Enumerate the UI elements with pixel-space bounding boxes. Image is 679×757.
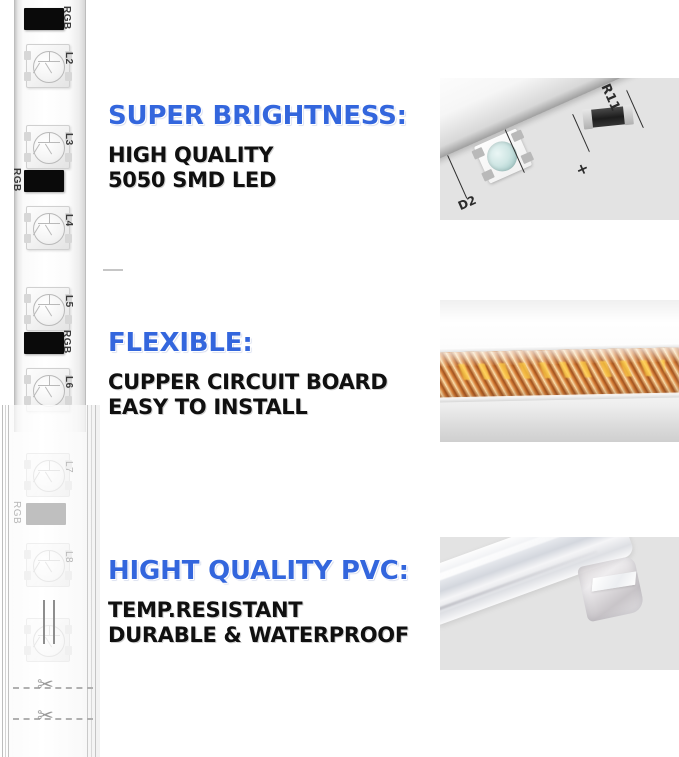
scissors-icon: ✂ [37, 675, 54, 695]
photo-smd-led: R11 D2 + [440, 78, 679, 220]
cut-marker: ✂ [13, 678, 93, 698]
photo-pvc-sleeve [440, 537, 679, 670]
feature-line: EASY TO INSTALL [108, 395, 388, 420]
feature-block-hight-quality-pvc: HIGHT QUALITY PVC: TEMP.RESISTANT DURABL… [108, 556, 409, 647]
led-pad [65, 234, 72, 243]
led-pad [24, 234, 31, 243]
led-package [26, 206, 70, 250]
led-package [26, 125, 70, 169]
led-pad [24, 132, 31, 141]
lead-wire [43, 600, 45, 644]
silkscreen-label-rgb: RGB [61, 6, 72, 30]
led-strip-column: RGB L2 L3 RGB [0, 0, 100, 757]
led-solder-pad [511, 129, 525, 142]
silkscreen-label-l5: L5 [63, 295, 74, 308]
silkscreen-label-l2: L2 [63, 52, 74, 65]
led-pad [24, 481, 31, 490]
strip-edge-line [91, 405, 92, 757]
led-pad [65, 315, 72, 324]
led-pad [24, 571, 31, 580]
led-pad [65, 72, 72, 81]
product-infographic: RGB L2 L3 RGB [0, 0, 679, 757]
chip-resistor [24, 332, 64, 354]
feature-block-super-brightness: SUPER BRIGHTNESS: HIGH QUALITY 5050 SMD … [108, 101, 407, 192]
silkscreen-label-rgb: RGB [11, 168, 22, 192]
silkscreen-label-l6: L6 [63, 376, 74, 389]
led-package [26, 287, 70, 331]
led-solder-pad [520, 151, 534, 164]
led-pad [24, 294, 31, 303]
feature-heading: FLEXIBLE: [108, 328, 388, 358]
feature-heading: HIGHT QUALITY PVC: [108, 556, 409, 586]
led-pad [65, 153, 72, 162]
feature-line: CUPPER CIRCUIT BOARD [108, 370, 388, 395]
silkscreen-label-rgb: RGB [61, 330, 72, 354]
silkscreen-label-rgb: RGB [11, 501, 22, 524]
scissors-icon: ✂ [37, 706, 54, 726]
led-pad [24, 396, 31, 405]
led-pad [65, 646, 72, 655]
chip-resistor [26, 503, 66, 525]
strip-edge-line [8, 405, 9, 757]
feature-block-flexible: FLEXIBLE: CUPPER CIRCUIT BOARD EASY TO I… [108, 328, 388, 419]
led-package [26, 44, 70, 88]
silkscreen-label-l4: L4 [63, 214, 74, 227]
silkscreen-label-l8: L8 [63, 551, 74, 563]
photo-copper-board [440, 300, 679, 442]
silkscreen-label-l3: L3 [63, 133, 74, 146]
feature-line: HIGH QUALITY [108, 143, 407, 168]
led-pad [24, 646, 31, 655]
feature-line: DURABLE & WATERPROOF [108, 623, 409, 648]
led-package [26, 618, 70, 662]
led-pad [65, 571, 72, 580]
chip-resistor [24, 8, 64, 30]
separator-dash [103, 269, 123, 271]
led-pad [24, 625, 31, 634]
led-package [26, 453, 70, 497]
led-pad [24, 153, 31, 162]
led-pad [24, 460, 31, 469]
led-pad [65, 481, 72, 490]
chip-resistor [24, 170, 64, 192]
strip-edge-line [2, 405, 3, 757]
cut-marker: ✂ [13, 709, 93, 729]
strip-edge-line [5, 405, 6, 757]
led-pad [24, 375, 31, 384]
silkscreen-label-l7: L7 [63, 461, 74, 473]
led-pad [65, 396, 72, 405]
led-pad [24, 72, 31, 81]
led-pad [65, 625, 72, 634]
silkscreen-text-plus: + [573, 158, 592, 180]
led-package [26, 543, 70, 587]
pvc-cut-end [577, 556, 645, 623]
feature-heading: SUPER BRIGHTNESS: [108, 101, 407, 131]
feature-line: 5050 SMD LED [108, 168, 407, 193]
feature-line: TEMP.RESISTANT [108, 598, 409, 623]
silkscreen-text-d2: D2 [456, 193, 478, 213]
strip-edge-line [87, 405, 88, 757]
led-pad [24, 213, 31, 222]
led-pad [24, 51, 31, 60]
led-pad [24, 550, 31, 559]
strip-edge-line [95, 405, 96, 757]
lead-wire [53, 600, 55, 644]
led-pad [24, 315, 31, 324]
